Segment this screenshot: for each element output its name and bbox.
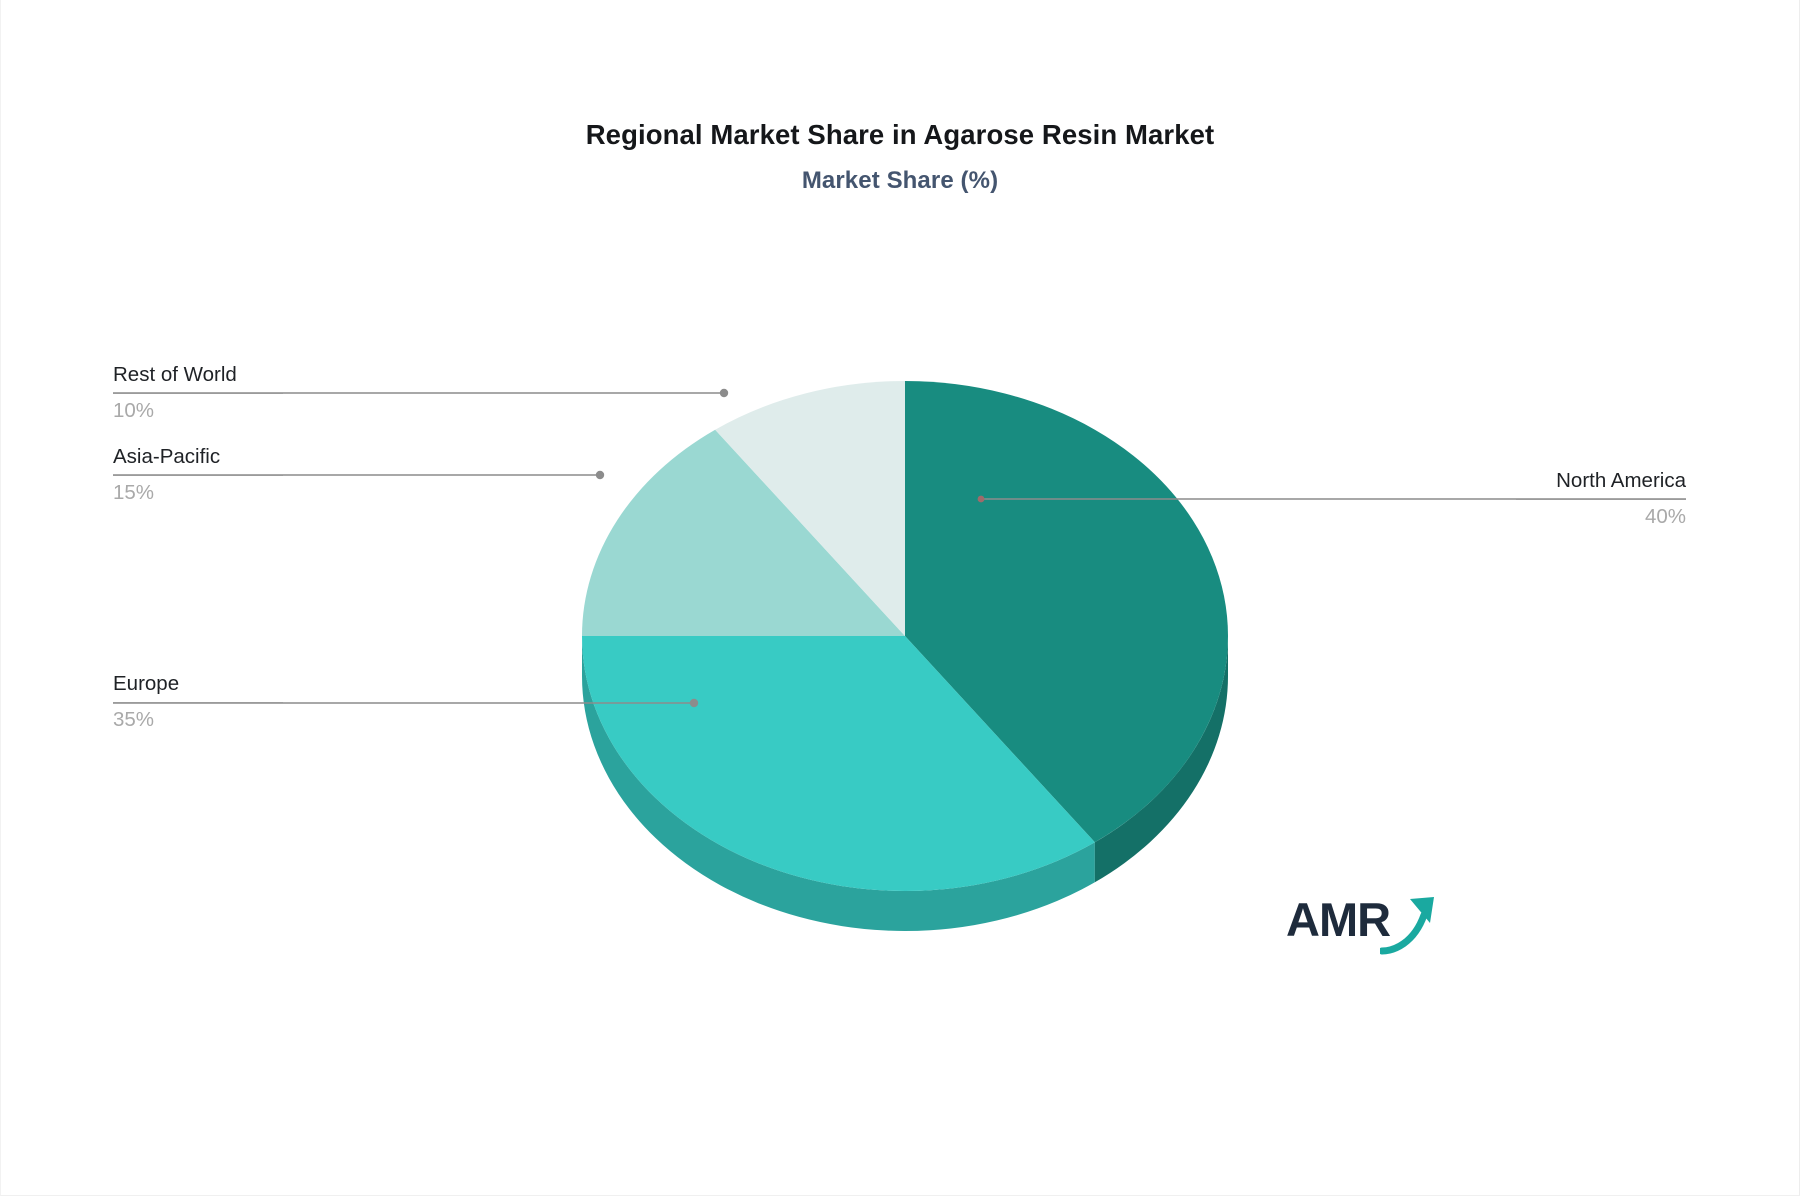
leader-dot-asia-pacific — [596, 471, 604, 479]
callout-value-north-america: 40% — [1516, 504, 1686, 530]
callout-label-rest-of-world: Rest of World — [113, 362, 283, 388]
callout-asia-pacific: Asia-Pacific 15% — [113, 444, 283, 506]
callout-rule — [113, 702, 283, 703]
amr-logo: AMR — [1286, 893, 1446, 961]
leader-dot-rest-of-world — [720, 389, 728, 397]
callout-label-europe: Europe — [113, 671, 283, 697]
callout-europe: Europe 35% — [113, 671, 283, 733]
pie-chart-plot — [0, 0, 1800, 1196]
callout-rule — [113, 475, 283, 476]
callout-rule — [113, 393, 283, 394]
leader-dot-europe — [690, 699, 698, 707]
callout-rule — [1516, 499, 1686, 500]
callout-label-asia-pacific: Asia-Pacific — [113, 444, 283, 470]
callout-value-europe: 35% — [113, 707, 283, 733]
leader-dot-north-america — [978, 496, 985, 503]
amr-logo-text: AMR — [1286, 895, 1390, 945]
callout-north-america: North America 40% — [1516, 468, 1686, 530]
chart-canvas: Regional Market Share in Agarose Resin M… — [0, 0, 1800, 1196]
growth-arrow-icon — [1380, 893, 1446, 959]
callout-label-north-america: North America — [1516, 468, 1686, 494]
callout-value-asia-pacific: 15% — [113, 480, 283, 506]
callout-value-rest-of-world: 10% — [113, 398, 283, 424]
callout-rest-of-world: Rest of World 10% — [113, 362, 283, 424]
